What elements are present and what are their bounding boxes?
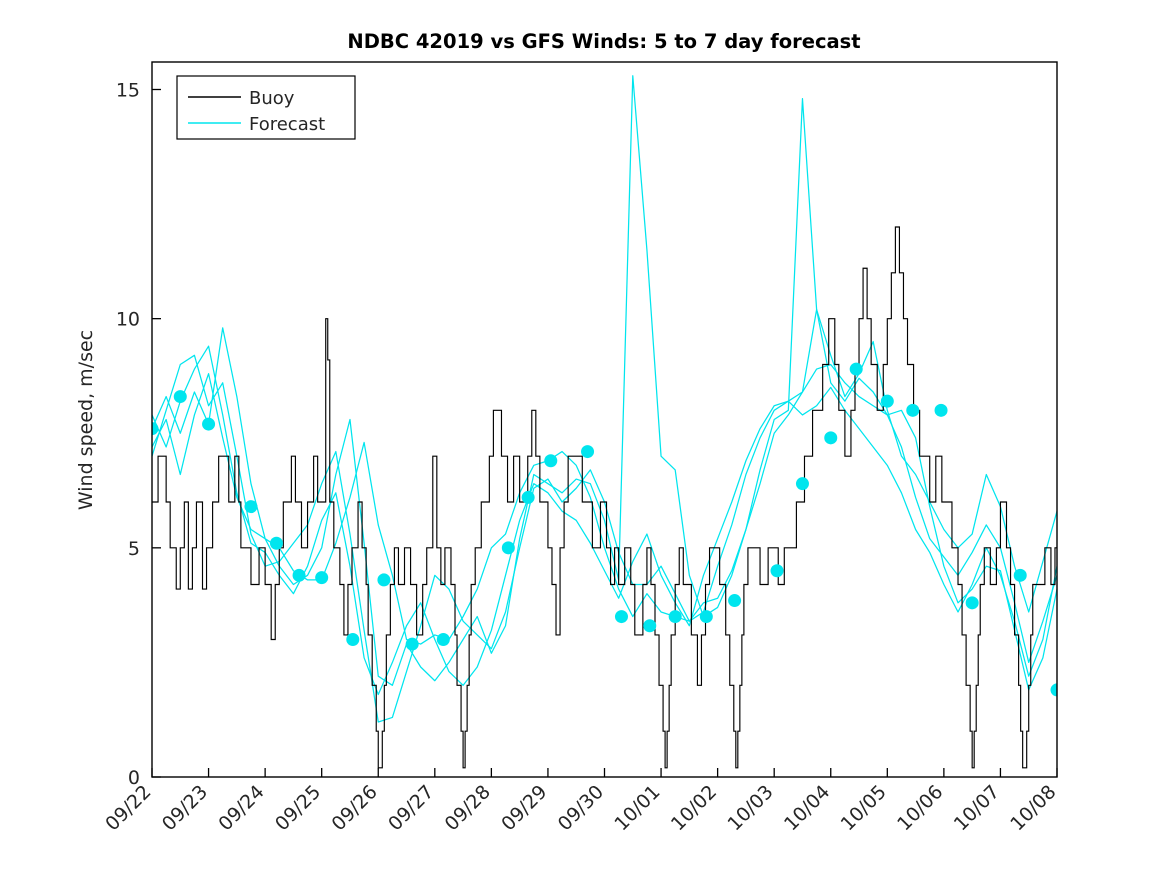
- forecast-marker-dot: [315, 571, 328, 584]
- y-axis-label: Wind speed, m/sec: [75, 330, 97, 510]
- forecast-marker-dot: [824, 431, 837, 444]
- forecast-marker-dot: [906, 404, 919, 417]
- chart-background: [0, 0, 1167, 875]
- figure-container: NDBC 42019 vs GFS Winds: 5 to 7 day fore…: [0, 0, 1167, 875]
- forecast-marker-dot: [728, 594, 741, 607]
- chart-title: NDBC 42019 vs GFS Winds: 5 to 7 day fore…: [347, 30, 860, 53]
- chart-legend[interactable]: Buoy Forecast: [177, 76, 355, 139]
- forecast-marker-dot: [700, 610, 713, 623]
- forecast-marker-dot: [643, 619, 656, 632]
- forecast-marker-dot: [244, 500, 257, 513]
- y-tick-label: 10: [116, 309, 140, 331]
- forecast-marker-dot: [1014, 569, 1027, 582]
- forecast-marker-dot: [669, 610, 682, 623]
- forecast-marker-dot: [581, 445, 594, 458]
- forecast-marker-dot: [202, 418, 215, 431]
- forecast-marker-dot: [966, 596, 979, 609]
- forecast-marker-dot: [502, 541, 515, 554]
- y-tick-label: 5: [128, 538, 140, 560]
- forecast-marker-dot: [544, 454, 557, 467]
- legend-label-buoy: Buoy: [249, 88, 295, 109]
- forecast-marker-dot: [935, 404, 948, 417]
- forecast-marker-dot: [174, 390, 187, 403]
- forecast-marker-dot: [346, 633, 359, 646]
- forecast-marker-dot: [522, 491, 535, 504]
- forecast-marker-dot: [293, 569, 306, 582]
- forecast-marker-dot: [771, 564, 784, 577]
- forecast-marker-dot: [437, 633, 450, 646]
- forecast-marker-dot: [406, 638, 419, 651]
- forecast-marker-dot: [615, 610, 628, 623]
- forecast-marker-dot: [796, 477, 809, 490]
- forecast-marker-dot: [377, 573, 390, 586]
- y-tick-label: 15: [116, 80, 140, 102]
- forecast-marker-dot: [270, 537, 283, 550]
- forecast-marker-dot: [881, 395, 894, 408]
- forecast-marker-dot: [850, 363, 863, 376]
- wind-speed-chart: NDBC 42019 vs GFS Winds: 5 to 7 day fore…: [0, 0, 1167, 875]
- legend-label-forecast: Forecast: [249, 114, 325, 135]
